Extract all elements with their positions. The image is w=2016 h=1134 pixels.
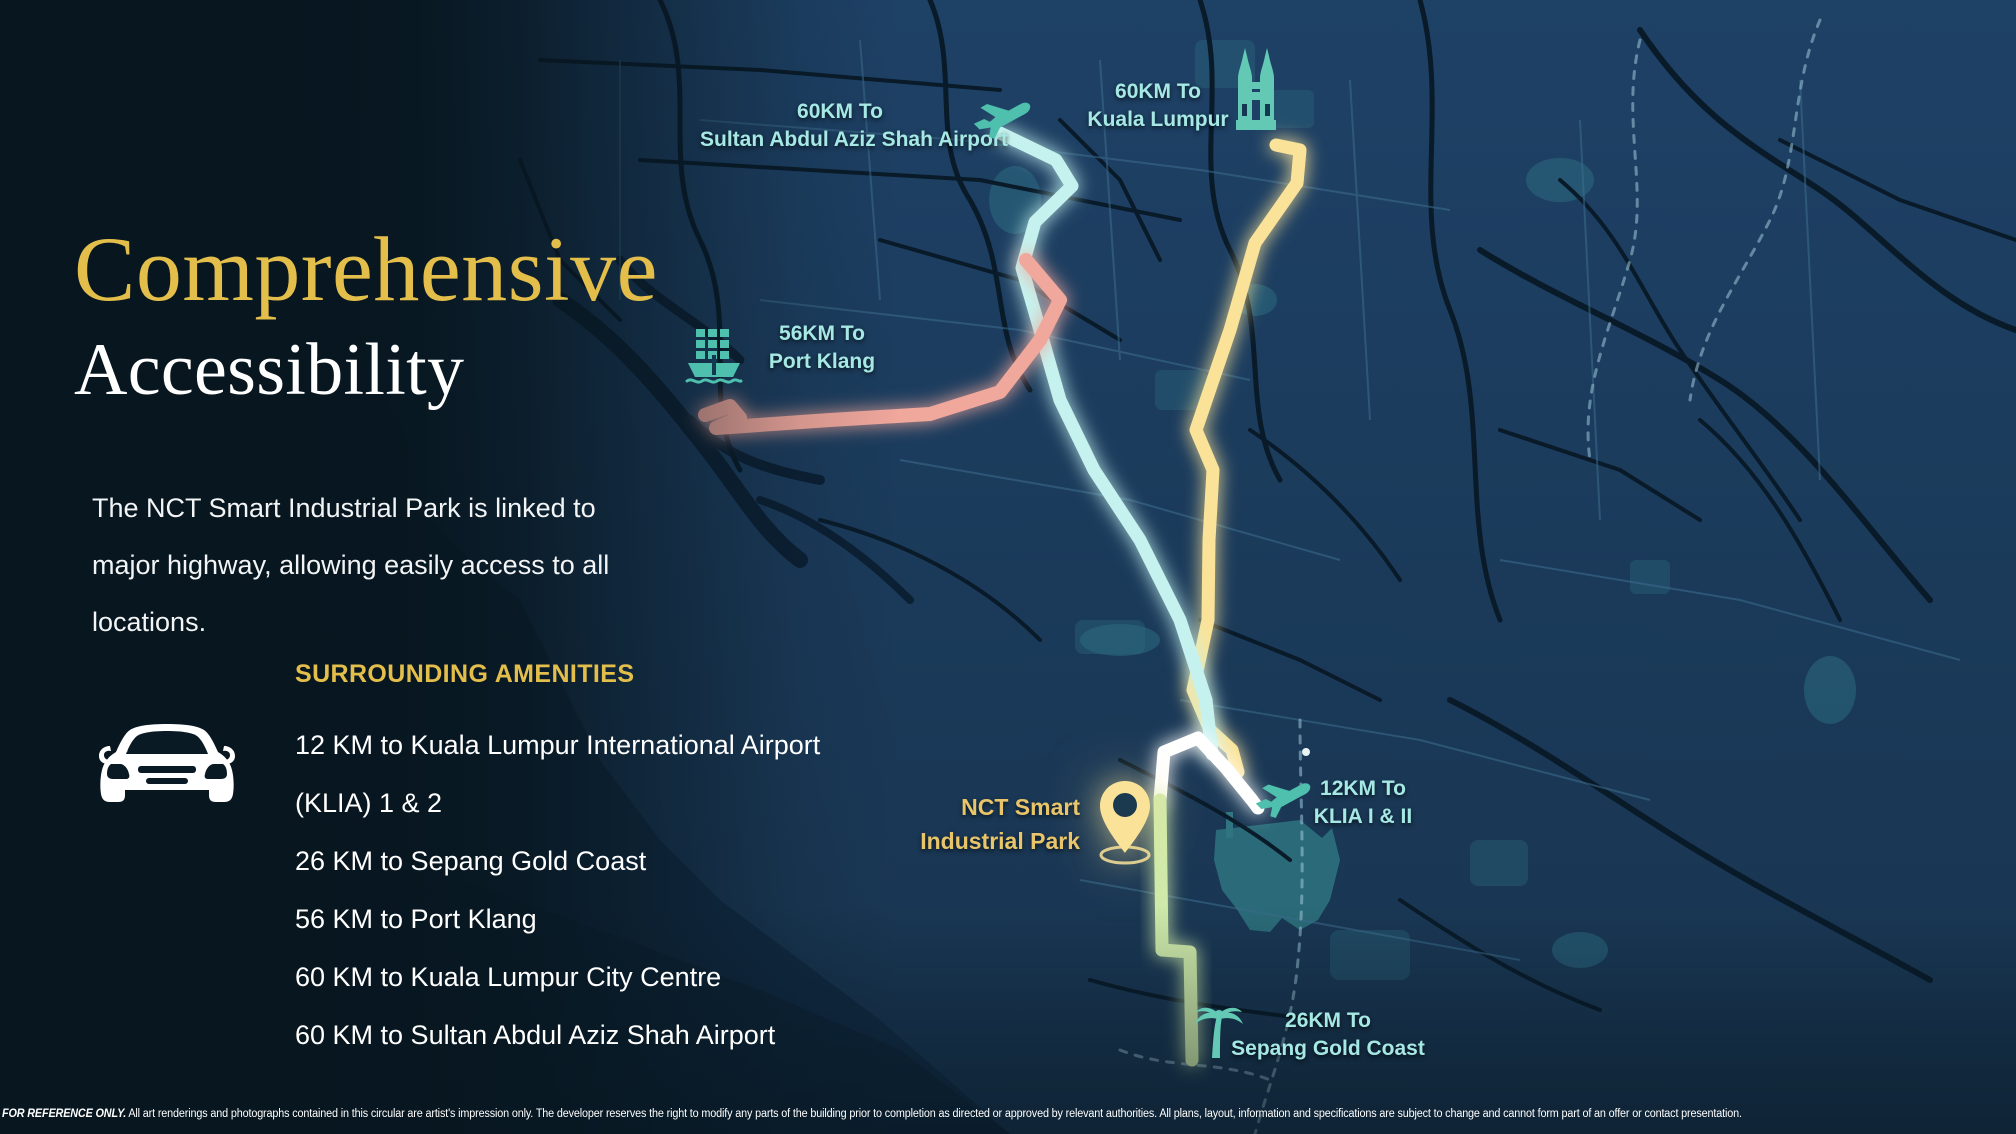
list-item: 60 KM to Sultan Abdul Aziz Shah Airport — [295, 1006, 895, 1064]
label-kuala-lumpur: 60KM To Kuala Lumpur — [1058, 78, 1258, 134]
page-title-line1: Comprehensive — [74, 223, 658, 315]
label-port-klang: 56KM To Port Klang — [742, 320, 902, 376]
label-kuala-lumpur-distance: 60KM To — [1058, 78, 1258, 106]
palm-tree-icon — [1193, 1000, 1245, 1062]
intro-paragraph: The NCT Smart Industrial Park is linked … — [92, 480, 662, 651]
cargo-ship-icon — [683, 325, 745, 387]
car-icon — [88, 716, 246, 808]
amenities-heading: SURROUNDING AMENITIES — [295, 660, 634, 689]
airplane-icon — [972, 98, 1032, 140]
label-shah-airport: 60KM To Sultan Abdul Aziz Shah Airport — [700, 98, 980, 154]
petronas-towers-icon — [1230, 48, 1282, 130]
list-item: (KLIA) 1 & 2 — [295, 774, 895, 832]
page-title-line2: Accessibility — [74, 333, 464, 407]
label-port-klang-distance: 56KM To — [742, 320, 902, 348]
list-item: 60 KM to Kuala Lumpur City Centre — [295, 948, 895, 1006]
list-item: 26 KM to Sepang Gold Coast — [295, 832, 895, 890]
accessibility-slide: 60KM To Sultan Abdul Aziz Shah Airport 6… — [0, 0, 2016, 1134]
label-shah-airport-distance: 60KM To — [700, 98, 980, 126]
amenities-list: 12 KM to Kuala Lumpur International Airp… — [295, 716, 895, 1064]
map-dot-marker — [1302, 748, 1310, 756]
footer-disclaimer: FOR REFERENCE ONLY. All art renderings a… — [0, 1094, 2016, 1134]
label-shah-airport-place: Sultan Abdul Aziz Shah Airport — [700, 126, 980, 154]
map-pin-icon[interactable] — [1090, 775, 1160, 867]
airplane-icon — [1254, 778, 1312, 820]
label-kuala-lumpur-place: Kuala Lumpur — [1058, 106, 1258, 134]
label-nct-line1: NCT Smart — [870, 790, 1080, 824]
footer-body: All art renderings and photographs conta… — [126, 1108, 1742, 1120]
content-panel: Comprehensive Accessibility The NCT Smar… — [0, 0, 900, 1080]
footer-emphasis: FOR REFERENCE ONLY. — [2, 1108, 126, 1120]
list-item: 56 KM to Port Klang — [295, 890, 895, 948]
label-nct-line2: Industrial Park — [870, 824, 1080, 858]
list-item: 12 KM to Kuala Lumpur International Airp… — [295, 716, 895, 774]
label-port-klang-place: Port Klang — [742, 348, 902, 376]
label-nct-industrial-park: NCT Smart Industrial Park — [870, 790, 1080, 858]
